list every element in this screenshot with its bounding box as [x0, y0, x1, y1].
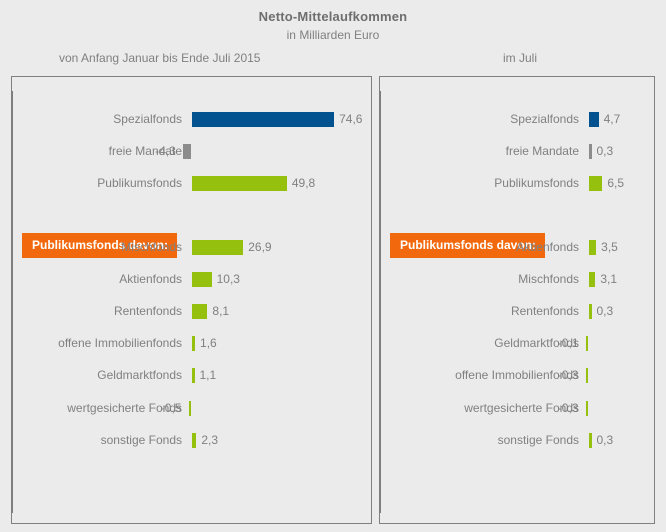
bar-value-label: 1,1: [200, 362, 217, 388]
bar-label: freie Mandate: [506, 138, 579, 164]
panel-caption-left: von Anfang Januar bis Ende Juli 2015: [59, 51, 260, 65]
bar: [189, 401, 192, 416]
bar-value-label: 6,5: [607, 170, 624, 196]
chart-row: offene Immobilienfonds1,6: [12, 330, 371, 356]
bar: [589, 176, 602, 191]
bar-value-label: -0,5: [161, 395, 182, 421]
chart-row: freie Mandate0,3: [380, 138, 654, 164]
chart-header: Netto-Mittelaufkommen in Milliarden Euro…: [0, 0, 666, 76]
bar-value-label: -0,3: [558, 395, 579, 421]
bar-label: Publikumsfonds: [97, 170, 182, 196]
bar: [192, 176, 287, 191]
chart-panel-cumulative: Publikumsfonds davon:Spezialfonds74,6fre…: [11, 76, 372, 524]
chart-row: Mischfonds26,9: [12, 234, 371, 260]
bar-label: Mischfonds: [518, 266, 579, 292]
bar-label: sonstige Fonds: [101, 427, 182, 453]
bar-value-label: 10,3: [217, 266, 240, 292]
bar: [586, 401, 589, 416]
chart-row: Spezialfonds4,7: [380, 106, 654, 132]
bar-value-label: -4,3: [155, 138, 176, 164]
chart-row: wertgesicherte Fonds-0,3: [380, 395, 654, 421]
bar: [192, 272, 212, 287]
bar-label: Rentenfonds: [511, 298, 579, 324]
chart-row: Spezialfonds74,6: [12, 106, 371, 132]
bar: [192, 112, 334, 127]
bar-value-label: -0,3: [558, 362, 579, 388]
bar-value-label: -0,1: [558, 330, 579, 356]
bar-label: offene Immobilienfonds: [58, 330, 182, 356]
bar-value-label: 8,1: [212, 298, 229, 324]
bar-label: Publikumsfonds: [494, 170, 579, 196]
bar: [192, 336, 195, 351]
bar-value-label: 74,6: [339, 106, 362, 132]
chart-row: sonstige Fonds0,3: [380, 427, 654, 453]
bar: [183, 144, 191, 159]
chart-row: freie Mandate-4,3: [12, 138, 371, 164]
chart-row: Rentenfonds0,3: [380, 298, 654, 324]
bar-value-label: 0,3: [597, 298, 614, 324]
chart-row: Rentenfonds8,1: [12, 298, 371, 324]
chart-row: sonstige Fonds2,3: [12, 427, 371, 453]
chart-row: Geldmarktfonds-0,1: [380, 330, 654, 356]
bar-value-label: 0,3: [597, 427, 614, 453]
bar: [589, 272, 595, 287]
bar: [589, 433, 592, 448]
bar-label: Spezialfonds: [510, 106, 579, 132]
bar-value-label: 0,3: [597, 138, 614, 164]
bar-value-label: 2,3: [201, 427, 218, 453]
bar-value-label: 3,5: [601, 234, 618, 260]
bar-value-label: 3,1: [600, 266, 617, 292]
bar-value-label: 49,8: [292, 170, 315, 196]
bar-value-label: 26,9: [248, 234, 271, 260]
bar: [586, 336, 589, 351]
chart-row: Publikumsfonds6,5: [380, 170, 654, 196]
bar: [192, 240, 243, 255]
bar-label: sonstige Fonds: [498, 427, 579, 453]
bar: [589, 304, 592, 319]
bar: [589, 144, 592, 159]
chart-row: offene Immobilienfonds-0,3: [380, 362, 654, 388]
chart-row: wertgesicherte Fonds-0,5: [12, 395, 371, 421]
chart-panel-july: Publikumsfonds davon:Spezialfonds4,7frei…: [379, 76, 655, 524]
bar-label: Aktienfonds: [516, 234, 579, 260]
chart-row: Aktienfonds10,3: [12, 266, 371, 292]
bar-label: Rentenfonds: [114, 298, 182, 324]
bar-value-label: 4,7: [604, 106, 621, 132]
chart-row: Mischfonds3,1: [380, 266, 654, 292]
bar-label: Aktienfonds: [119, 266, 182, 292]
chart-subtitle: in Milliarden Euro: [0, 28, 666, 42]
bar-label: Spezialfonds: [113, 106, 182, 132]
bar: [192, 304, 207, 319]
chart-row: Geldmarktfonds1,1: [12, 362, 371, 388]
bar: [589, 112, 599, 127]
bar-label: Mischfonds: [121, 234, 182, 260]
page-title: Netto-Mittelaufkommen: [0, 9, 666, 24]
bar-label: Geldmarktfonds: [97, 362, 182, 388]
bar: [586, 368, 589, 383]
chart-row: Publikumsfonds49,8: [12, 170, 371, 196]
chart-row: Aktienfonds3,5: [380, 234, 654, 260]
panel-caption-right: im Juli: [503, 51, 537, 65]
bar-value-label: 1,6: [200, 330, 217, 356]
bar: [192, 433, 196, 448]
bar: [589, 240, 596, 255]
bar: [192, 368, 195, 383]
